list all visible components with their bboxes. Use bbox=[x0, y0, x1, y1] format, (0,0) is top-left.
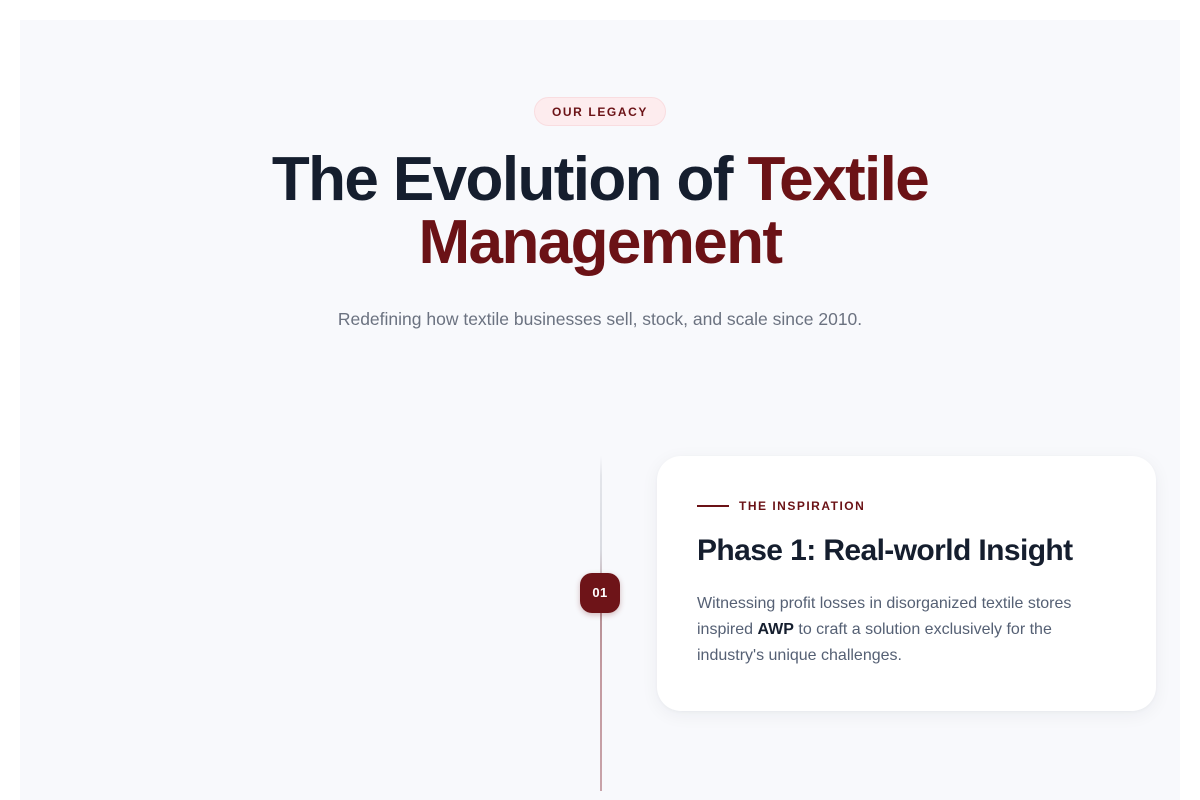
timeline-card-01[interactable]: THE INSPIRATION Phase 1: Real-world Insi… bbox=[657, 456, 1156, 711]
card-body: Witnessing profit losses in disorganized… bbox=[697, 591, 1116, 669]
card-kicker: THE INSPIRATION bbox=[697, 500, 1116, 512]
timeline-marker-01[interactable]: 01 bbox=[580, 573, 620, 613]
card-title: Phase 1: Real-world Insight bbox=[697, 533, 1116, 569]
timeline-section: 01 THE INSPIRATION Phase 1: Real-world I… bbox=[20, 456, 1180, 791]
page-title-lead: The Evolution of bbox=[272, 145, 748, 214]
timeline-spine bbox=[600, 456, 602, 791]
card-kicker-label: THE INSPIRATION bbox=[739, 500, 865, 512]
hero-section: OUR LEGACY The Evolution of Textile Mana… bbox=[20, 20, 1180, 333]
card-body-emphasis: AWP bbox=[757, 621, 793, 638]
hero-subtitle: Redefining how textile businesses sell, … bbox=[20, 306, 1180, 332]
kicker-rule-icon bbox=[697, 505, 729, 507]
page-shell: OUR LEGACY The Evolution of Textile Mana… bbox=[20, 20, 1180, 800]
eyebrow-badge: OUR LEGACY bbox=[534, 97, 666, 126]
page-title: The Evolution of Textile Management bbox=[205, 148, 995, 274]
